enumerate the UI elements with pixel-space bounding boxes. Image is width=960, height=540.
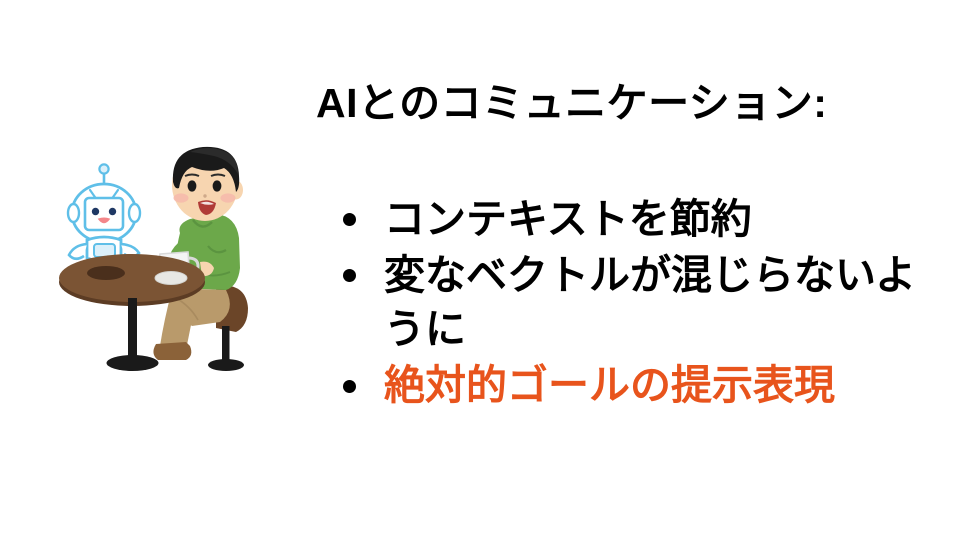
bullet-list: コンテキストを節約 変なベクトルが混じらないように 絶対的ゴールの提示表現 [336,192,936,414]
list-item: 変なベクトルが混じらないように [336,248,936,356]
bullet-dot-icon [343,213,356,226]
list-item-label: コンテキストを節約 [384,192,936,246]
bullet-dot-icon [343,380,356,393]
robot-icon [68,164,140,269]
list-item-label: 変なベクトルが混じらないように [384,248,936,356]
list-item-highlighted: 絶対的ゴールの提示表現 [336,358,936,412]
slide-canvas: AIとのコミュニケーション: コンテキストを節約 変なベクトルが混じらないように… [0,0,960,540]
page-title: AIとのコミュニケーション: [316,78,916,129]
list-item: コンテキストを節約 [336,192,936,246]
bullet-dot-icon [343,269,356,282]
cafe-ai-illustration [40,140,302,392]
list-item-label-accent: 絶対的ゴールの提示表現 [384,358,936,412]
